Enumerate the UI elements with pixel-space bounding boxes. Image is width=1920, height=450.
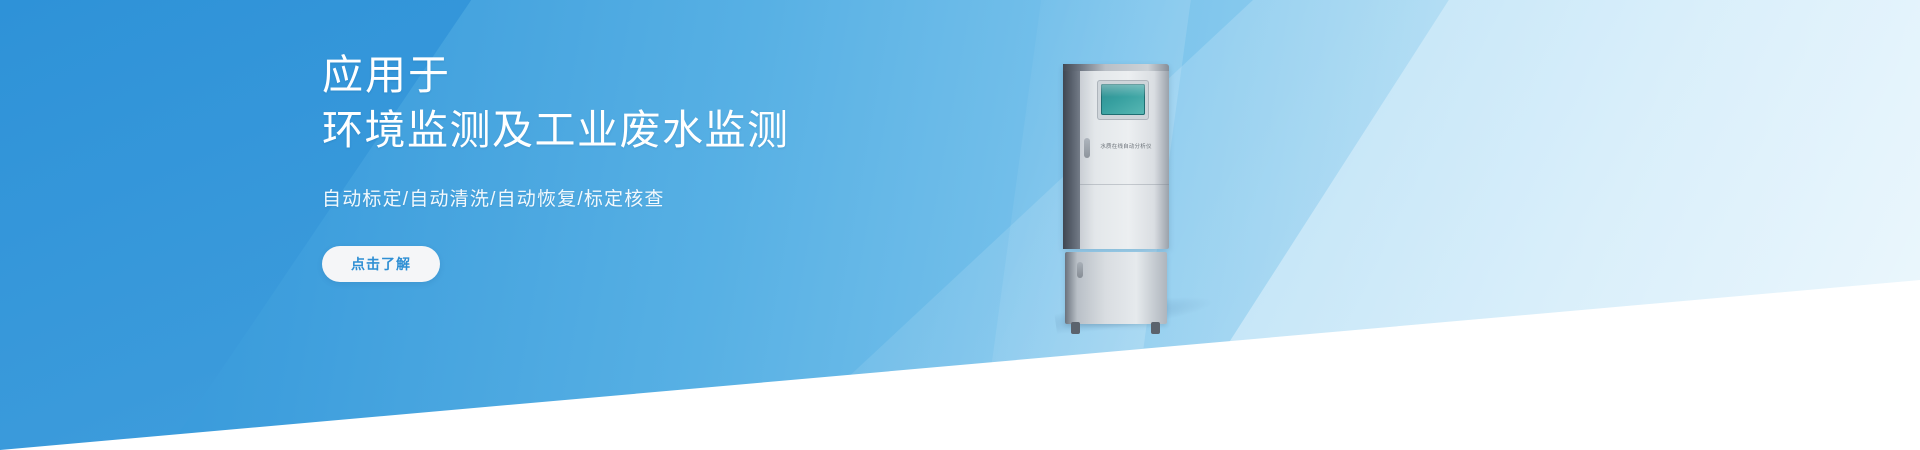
headline-line-1: 应用于 xyxy=(322,48,1082,103)
upper-door-handle xyxy=(1084,138,1090,158)
hero-banner: 应用于 环境监测及工业废水监测 自动标定/自动清洗/自动恢复/标定核查 点击了解… xyxy=(0,0,1920,450)
cabinet-seam xyxy=(1080,184,1169,185)
lower-door-handle xyxy=(1077,262,1083,278)
learn-more-button[interactable]: 点击了解 xyxy=(322,246,440,282)
cabinet-foot-right xyxy=(1151,322,1160,334)
device-label: 水质在线自动分析仪 xyxy=(1093,142,1159,150)
cabinet-foot-left xyxy=(1071,322,1080,334)
hero-subtitle: 自动标定/自动清洗/自动恢复/标定核查 xyxy=(322,184,1082,211)
hero-copy-block: 应用于 环境监测及工业废水监测 自动标定/自动清洗/自动恢复/标定核查 点击了解 xyxy=(322,48,1082,282)
headline-line-2: 环境监测及工业废水监测 xyxy=(322,103,1082,158)
cabinet-top-edge xyxy=(1063,64,1169,71)
page-title: 应用于 环境监测及工业废水监测 xyxy=(322,48,1082,158)
water-quality-analyzer-image: 水质在线自动分析仪 xyxy=(1063,64,1169,314)
cabinet-left-rail xyxy=(1063,64,1080,249)
display-glare xyxy=(1101,84,1145,97)
